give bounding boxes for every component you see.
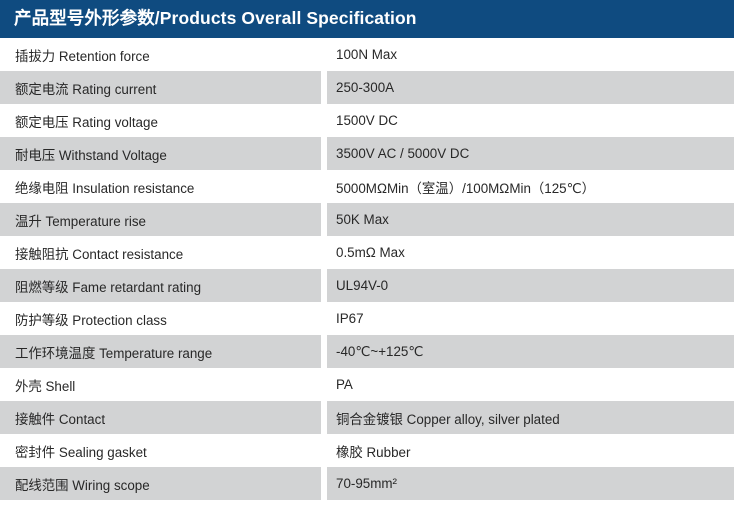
spec-parameter-value: 250-300A xyxy=(327,71,734,104)
specification-sheet: 产品型号外形参数/Products Overall Specification … xyxy=(0,0,734,513)
spec-parameter-value: 70-95mm² xyxy=(327,467,734,500)
spec-parameter-label: 温升 Temperature rise xyxy=(0,203,321,236)
table-row: 绝缘电阻 Insulation resistance5000MΩMin（室温）/… xyxy=(0,170,734,203)
spec-parameter-value: -40℃~+125℃ xyxy=(327,335,734,368)
table-row: 工作环境温度 Temperature range-40℃~+125℃ xyxy=(0,335,734,368)
page-title: 产品型号外形参数/Products Overall Specification xyxy=(14,10,417,28)
spec-parameter-value: 1500V DC xyxy=(327,104,734,137)
spec-parameter-label: 接触件 Contact xyxy=(0,401,321,434)
spec-parameter-label: 额定电压 Rating voltage xyxy=(0,104,321,137)
table-row: 温升 Temperature rise50K Max xyxy=(0,203,734,236)
spec-parameter-label: 外壳 Shell xyxy=(0,368,321,401)
spec-parameter-value: 5000MΩMin（室温）/100MΩMin（125℃） xyxy=(327,170,734,203)
spec-parameter-value: 100N Max xyxy=(327,38,734,71)
spec-parameter-value: PA xyxy=(327,368,734,401)
spec-parameter-value: IP67 xyxy=(327,302,734,335)
spec-parameter-value: 铜合金镀银 Copper alloy, silver plated xyxy=(327,401,734,434)
spec-parameter-value: UL94V-0 xyxy=(327,269,734,302)
table-row: 接触阻抗 Contact resistance0.5mΩ Max xyxy=(0,236,734,269)
table-row: 防护等级 Protection classIP67 xyxy=(0,302,734,335)
specification-header-bar: 产品型号外形参数/Products Overall Specification xyxy=(0,0,734,38)
spec-parameter-label: 接触阻抗 Contact resistance xyxy=(0,236,321,269)
spec-parameter-label: 绝缘电阻 Insulation resistance xyxy=(0,170,321,203)
specification-table: 插拔力 Retention force100N Max额定电流 Rating c… xyxy=(0,38,734,500)
spec-parameter-label: 配线范围 Wiring scope xyxy=(0,467,321,500)
table-row: 接触件 Contact铜合金镀银 Copper alloy, silver pl… xyxy=(0,401,734,434)
spec-parameter-value: 橡胶 Rubber xyxy=(327,434,734,467)
table-row: 耐电压 Withstand Voltage3500V AC / 5000V DC xyxy=(0,137,734,170)
spec-parameter-value: 50K Max xyxy=(327,203,734,236)
spec-parameter-value: 3500V AC / 5000V DC xyxy=(327,137,734,170)
spec-parameter-label: 密封件 Sealing gasket xyxy=(0,434,321,467)
table-row: 插拔力 Retention force100N Max xyxy=(0,38,734,71)
spec-parameter-label: 阻燃等级 Fame retardant rating xyxy=(0,269,321,302)
table-row: 阻燃等级 Fame retardant ratingUL94V-0 xyxy=(0,269,734,302)
table-row: 配线范围 Wiring scope70-95mm² xyxy=(0,467,734,500)
table-row: 密封件 Sealing gasket橡胶 Rubber xyxy=(0,434,734,467)
spec-parameter-label: 耐电压 Withstand Voltage xyxy=(0,137,321,170)
spec-parameter-label: 插拔力 Retention force xyxy=(0,38,321,71)
spec-parameter-label: 额定电流 Rating current xyxy=(0,71,321,104)
table-row: 外壳 ShellPA xyxy=(0,368,734,401)
spec-parameter-label: 工作环境温度 Temperature range xyxy=(0,335,321,368)
table-row: 额定电流 Rating current250-300A xyxy=(0,71,734,104)
spec-parameter-value: 0.5mΩ Max xyxy=(327,236,734,269)
spec-parameter-label: 防护等级 Protection class xyxy=(0,302,321,335)
table-row: 额定电压 Rating voltage1500V DC xyxy=(0,104,734,137)
